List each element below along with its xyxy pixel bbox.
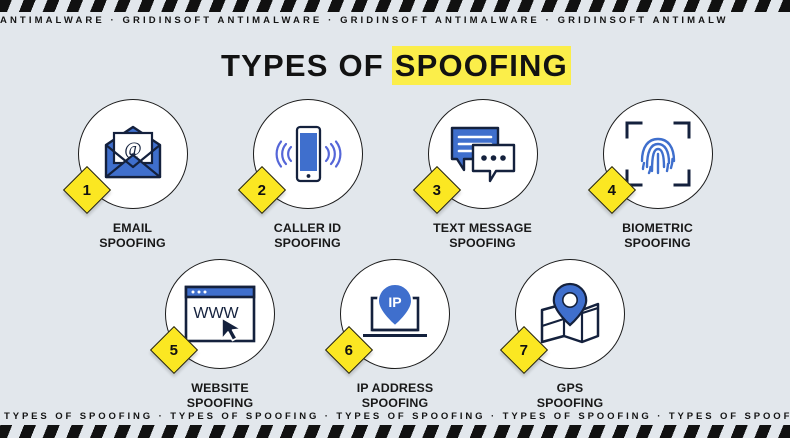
item-label-line2: SPOOFING [433,236,532,251]
item-label: IP ADDRESS SPOOFING [357,381,434,410]
item-number: 1 [82,183,90,198]
page-title-plain: TYPES OF [221,48,394,83]
chat-bubbles-icon [448,123,518,185]
browser-window-cursor-icon: WWW [184,285,256,343]
item-label: WEBSITE SPOOFING [187,381,254,410]
icon-circle-wrap: 2 [253,99,363,209]
item-text-message-spoofing[interactable]: 3 TEXT MESSAGE SPOOFING [395,99,570,250]
item-label: BIOMETRIC SPOOFING [622,221,693,250]
page-title-highlight: SPOOFING [394,48,569,83]
items-row-1: @ 1 EMAIL SPOOFING [0,99,790,250]
item-number: 4 [607,183,615,198]
page-title: TYPES OF SPOOFING [0,48,790,84]
bottom-marquee-text: TYPES OF SPOOFING · TYPES OF SPOOFING · … [0,408,790,424]
icon-circle-wrap: IP 6 [340,259,450,369]
item-label-line2: SPOOFING [274,236,341,251]
item-label-line2: SPOOFING [99,236,166,251]
item-biometric-spoofing[interactable]: 4 BIOMETRIC SPOOFING [570,99,745,250]
item-label: EMAIL SPOOFING [99,221,166,250]
diagonal-stripes-decoration [0,425,790,438]
icon-circle-wrap: 7 [515,259,625,369]
item-label-line1: CALLER ID [274,221,341,236]
icon-circle-wrap: 4 [603,99,713,209]
smartphone-signal-icon [271,123,345,185]
item-label-line1: BIOMETRIC [622,221,693,236]
fingerprint-scan-icon [625,121,691,187]
item-number: 7 [520,343,528,358]
item-label: TEXT MESSAGE SPOOFING [433,221,532,250]
item-label-line2: SPOOFING [622,236,693,251]
top-marquee-text: ANTIMALWARE · GRIDINSOFT ANTIMALWARE · G… [0,12,790,28]
item-label: GPS SPOOFING [537,381,604,410]
icon-circle-wrap: 3 [428,99,538,209]
item-gps-spoofing[interactable]: 7 GPS SPOOFING [483,259,658,410]
item-label: CALLER ID SPOOFING [274,221,341,250]
icon-circle-wrap: WWW 5 [165,259,275,369]
item-email-spoofing[interactable]: @ 1 EMAIL SPOOFING [45,99,220,250]
map-location-pin-icon [534,282,606,346]
item-number: 2 [257,183,265,198]
item-label-line1: IP ADDRESS [357,381,434,396]
item-label-line1: EMAIL [99,221,166,236]
items-row-2: WWW 5 WEBSITE SPOOFING IP [0,259,790,410]
laptop-ip-pin-icon: IP [359,282,431,346]
pin-ip-text: IP [388,294,401,310]
item-label-line1: WEBSITE [187,381,254,396]
item-number: 5 [170,343,178,358]
browser-www-text: WWW [193,305,239,322]
item-website-spoofing[interactable]: WWW 5 WEBSITE SPOOFING [133,259,308,410]
item-label-line1: TEXT MESSAGE [433,221,532,236]
icon-circle-wrap: @ 1 [78,99,188,209]
email-envelope-icon: @ [100,125,166,183]
item-number: 6 [345,343,353,358]
item-caller-id-spoofing[interactable]: 2 CALLER ID SPOOFING [220,99,395,250]
bottom-marquee-banner: TYPES OF SPOOFING · TYPES OF SPOOFING · … [0,408,790,438]
item-number: 3 [432,183,440,198]
item-ip-address-spoofing[interactable]: IP 6 IP ADDRESS SPOOFING [308,259,483,410]
top-marquee-banner: ANTIMALWARE · GRIDINSOFT ANTIMALWARE · G… [0,0,790,32]
item-label-line1: GPS [537,381,604,396]
diagonal-stripes-decoration [0,0,790,12]
